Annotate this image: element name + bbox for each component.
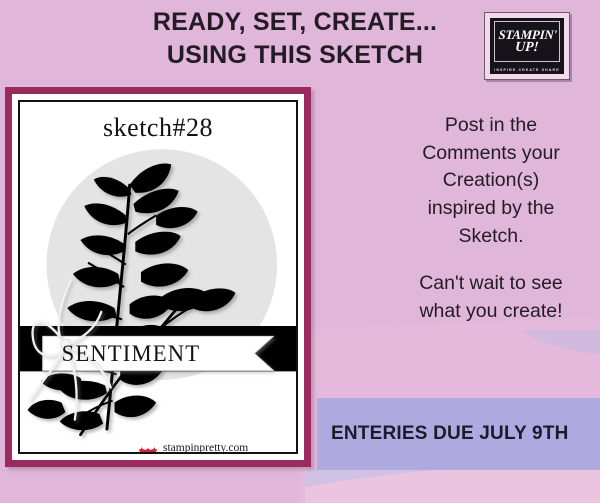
stampin-up-tagline: INSPIRE CREATE SHARE <box>490 68 564 72</box>
sketch-artwork: SENTIMENT <box>20 102 296 448</box>
deadline-text: ENTERIES DUE JULY 9TH <box>317 423 569 445</box>
instructions-p1-line-3: Creation(s) <box>388 167 594 195</box>
instructions-paragraph-1: Post in the Comments your Creation(s) in… <box>388 112 594 250</box>
instructions-p2-line-2: what you create! <box>388 298 594 326</box>
stampin-pretty-sketchbook-logo: stampinpretty.com sketchbook <box>138 442 248 454</box>
header: READY, SET, CREATE... USING THIS SKETCH … <box>0 0 600 88</box>
instructions-p1-line-1: Post in the <box>388 112 594 140</box>
sentiment-label: SENTIMENT <box>62 341 201 366</box>
sketch-card: sketch#28 <box>5 87 311 467</box>
stampin-up-logo-inner: STAMPIN' UP! INSPIRE CREATE SHARE <box>490 18 564 74</box>
instructions-p2-line-1: Can't wait to see <box>388 270 594 298</box>
page-title: READY, SET, CREATE... USING THIS SKETCH <box>120 6 470 72</box>
tulip-icon <box>138 443 158 454</box>
deadline-banner: ENTERIES DUE JULY 9TH <box>317 398 600 470</box>
instructions-paragraph-2: Can't wait to see what you create! <box>388 270 594 325</box>
sketch-card-inner: sketch#28 <box>18 100 298 454</box>
instructions-p1-line-5: Sketch. <box>388 223 594 251</box>
stampin-pretty-line-1: stampinpretty.com <box>163 442 248 454</box>
headline-line-2: USING THIS SKETCH <box>120 39 470 72</box>
stampin-up-wordmark-line-2: UP! <box>497 41 556 54</box>
stampin-up-wordmark: STAMPIN' UP! <box>497 29 557 55</box>
instructions-p1-line-2: Comments your <box>388 140 594 168</box>
stampin-pretty-text: stampinpretty.com sketchbook <box>163 442 248 454</box>
instructions-text: Post in the Comments your Creation(s) in… <box>388 112 594 326</box>
stampin-up-logo: STAMPIN' UP! INSPIRE CREATE SHARE <box>484 12 570 80</box>
instructions-p1-line-4: inspired by the <box>388 195 594 223</box>
headline-line-1: READY, SET, CREATE... <box>153 8 437 36</box>
